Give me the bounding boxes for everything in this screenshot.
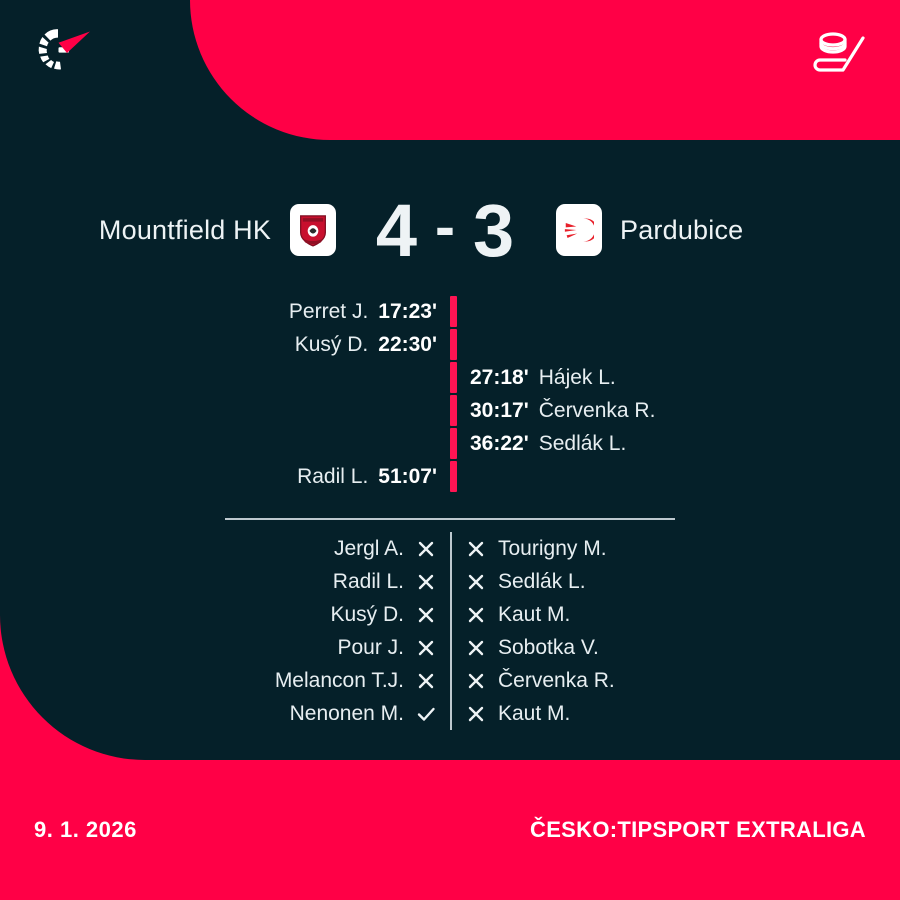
goal-time: 22:30' <box>378 333 437 357</box>
shootout-divider <box>450 631 452 664</box>
shootout-home-attempt: Kusý D. <box>225 603 450 627</box>
shootout-divider <box>450 598 452 631</box>
away-score: 3 <box>473 188 516 273</box>
away-team-name: Pardubice <box>612 213 810 247</box>
timeline-bar-segment <box>450 296 457 327</box>
shootout-divider <box>450 532 452 565</box>
cross-icon <box>416 671 436 691</box>
goal-scorer-name: Hájek L. <box>539 366 616 390</box>
shootout-row: Melancon T.J.Červenka R. <box>0 664 900 697</box>
hockey-puck-stick-icon <box>808 26 870 84</box>
shootout-away-attempt: Sedlák L. <box>452 570 677 594</box>
shootout-player-name: Melancon T.J. <box>275 669 404 693</box>
scoreline: Mountfield HK 4 - 3 <box>0 175 900 285</box>
check-icon <box>416 704 436 724</box>
shootout-player-name: Červenka R. <box>498 669 615 693</box>
cross-icon <box>416 605 436 625</box>
shootout-row: Radil L.Sedlák L. <box>0 565 900 598</box>
home-score: 4 <box>376 188 419 273</box>
shootout-divider <box>450 697 452 730</box>
shootout-home-attempt: Melancon T.J. <box>225 669 450 693</box>
goal-home-side: Perret J.17:23' <box>225 300 450 324</box>
shootout-player-name: Nenonen M. <box>290 702 404 726</box>
shootout-divider <box>450 565 452 598</box>
shootout-player-name: Sobotka V. <box>498 636 599 660</box>
header-red-block <box>190 0 900 140</box>
score-separator: - <box>435 192 457 261</box>
shootout-away-attempt: Kaut M. <box>452 603 677 627</box>
goal-time: 36:22' <box>470 432 529 456</box>
goal-away-side: 36:22'Sedlák L. <box>457 432 682 456</box>
shootout-player-name: Kaut M. <box>498 702 570 726</box>
cross-icon <box>466 671 486 691</box>
cross-icon <box>416 539 436 559</box>
match-panel: Mountfield HK 4 - 3 <box>0 140 900 760</box>
goal-away-side: 30:17'Červenka R. <box>457 399 682 423</box>
shootout-row: Jergl A.Tourigny M. <box>0 532 900 565</box>
cross-icon <box>416 572 436 592</box>
shootout-divider <box>450 664 452 697</box>
away-team-crest-icon <box>556 204 602 256</box>
goal-home-side: Radil L.51:07' <box>225 465 450 489</box>
shootout-row: Nenonen M.Kaut M. <box>0 697 900 730</box>
timeline-bar-segment <box>450 329 457 360</box>
goal-row: 27:18'Hájek L. <box>0 361 900 394</box>
goal-row: Radil L.51:07' <box>0 460 900 493</box>
home-team-crest-icon <box>290 204 336 256</box>
cross-icon <box>416 638 436 658</box>
shootout-home-attempt: Jergl A. <box>225 537 450 561</box>
goal-row: 30:17'Červenka R. <box>0 394 900 427</box>
shootout-away-attempt: Kaut M. <box>452 702 677 726</box>
shootout-player-name: Sedlák L. <box>498 570 586 594</box>
shootout-home-attempt: Pour J. <box>225 636 450 660</box>
shootout-separator <box>225 518 675 520</box>
league-name: ČESKO:TIPSPORT EXTRALIGA <box>530 817 866 843</box>
goal-time: 27:18' <box>470 366 529 390</box>
shootout-list: Jergl A.Tourigny M.Radil L.Sedlák L.Kusý… <box>0 532 900 730</box>
cross-icon <box>466 638 486 658</box>
shootout-row: Kusý D.Kaut M. <box>0 598 900 631</box>
goal-row: Kusý D.22:30' <box>0 328 900 361</box>
shootout-player-name: Radil L. <box>333 570 404 594</box>
goal-scorer-name: Červenka R. <box>539 399 656 423</box>
cross-icon <box>466 605 486 625</box>
shootout-player-name: Tourigny M. <box>498 537 607 561</box>
footer: 9. 1. 2026 ČESKO:TIPSPORT EXTRALIGA <box>0 760 900 900</box>
timeline-bar-segment <box>450 461 457 492</box>
shootout-player-name: Jergl A. <box>334 537 404 561</box>
shootout-home-attempt: Radil L. <box>225 570 450 594</box>
timeline-bar-segment <box>450 395 457 426</box>
goal-scorer-name: Perret J. <box>289 300 368 324</box>
goal-time: 17:23' <box>378 300 437 324</box>
goal-scorer-name: Sedlák L. <box>539 432 627 456</box>
goal-time: 51:07' <box>378 465 437 489</box>
shootout-player-name: Kusý D. <box>330 603 404 627</box>
shootout-home-attempt: Nenonen M. <box>225 702 450 726</box>
timeline-bar-segment <box>450 362 457 393</box>
goal-home-side: Kusý D.22:30' <box>225 333 450 357</box>
shootout-player-name: Pour J. <box>337 636 404 660</box>
cross-icon <box>466 572 486 592</box>
goal-scorer-name: Kusý D. <box>295 333 369 357</box>
home-team-name: Mountfield HK <box>90 213 280 247</box>
goal-row: 36:22'Sedlák L. <box>0 427 900 460</box>
goals-timeline: Perret J.17:23'Kusý D.22:30'27:18'Hájek … <box>0 295 900 493</box>
timeline-bar-segment <box>450 428 457 459</box>
shootout-away-attempt: Tourigny M. <box>452 537 677 561</box>
goal-time: 30:17' <box>470 399 529 423</box>
cross-icon <box>466 704 486 724</box>
shootout-row: Pour J.Sobotka V. <box>0 631 900 664</box>
flashscore-logo-icon <box>27 25 103 81</box>
cross-icon <box>466 539 486 559</box>
goal-row: Perret J.17:23' <box>0 295 900 328</box>
score-display: 4 - 3 <box>346 188 546 273</box>
shootout-away-attempt: Červenka R. <box>452 669 677 693</box>
score-graphic: Mountfield HK 4 - 3 <box>0 0 900 900</box>
shootout-player-name: Kaut M. <box>498 603 570 627</box>
shootout-away-attempt: Sobotka V. <box>452 636 677 660</box>
match-date: 9. 1. 2026 <box>34 817 137 843</box>
goal-scorer-name: Radil L. <box>297 465 368 489</box>
goal-away-side: 27:18'Hájek L. <box>457 366 682 390</box>
